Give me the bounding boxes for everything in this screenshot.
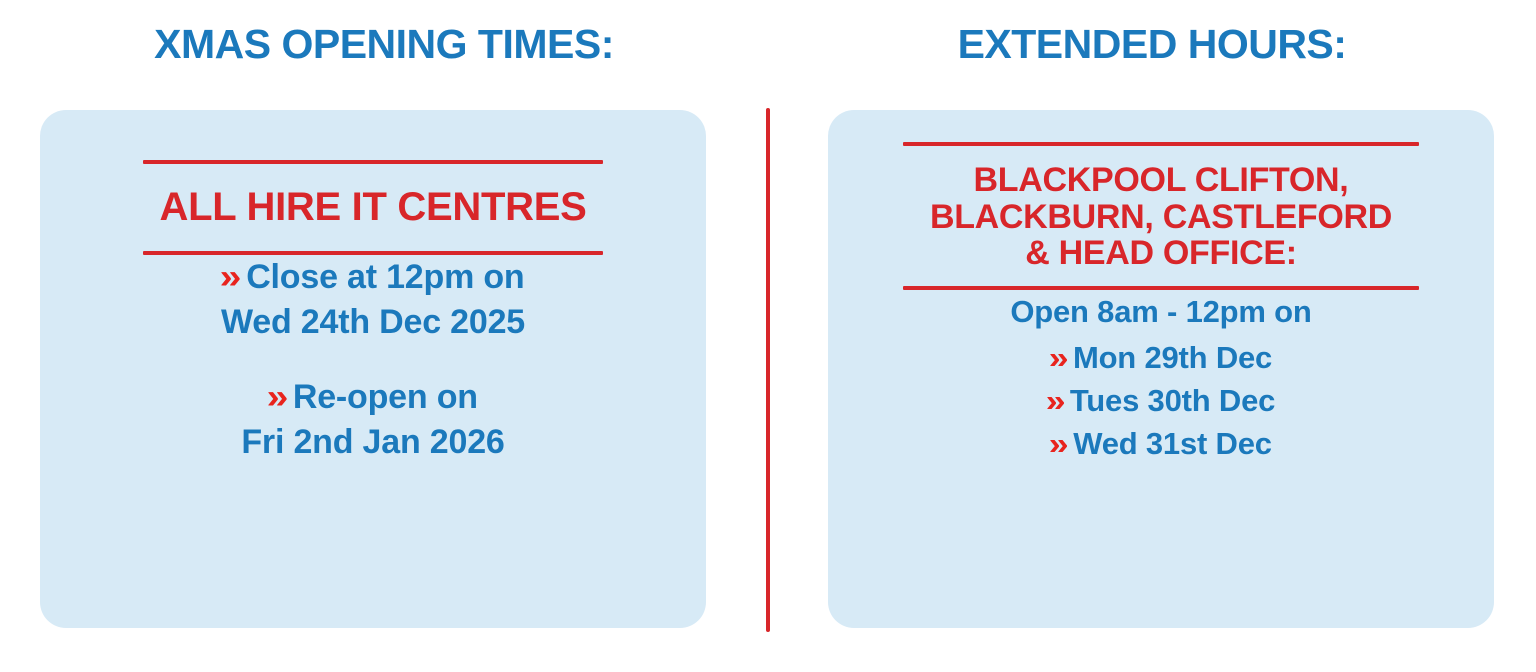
right-entry-mon-label: Mon 29th Dec xyxy=(1073,340,1272,375)
right-section-heading: EXTENDED HOURS: xyxy=(768,24,1536,65)
right-card-title: BLACKPOOL CLIFTON, BLACKBURN, CASTLEFORD… xyxy=(828,162,1494,272)
right-entry-wed-label: Wed 31st Dec xyxy=(1073,426,1272,461)
chevron-double-right-icon: » xyxy=(267,375,289,420)
left-title-rule-top xyxy=(143,160,603,164)
right-card-title-line-3: & HEAD OFFICE: xyxy=(828,235,1494,272)
right-card-inner: BLACKPOOL CLIFTON, BLACKBURN, CASTLEFORD… xyxy=(828,110,1494,466)
left-entry-reopen-line1: »Re-open on xyxy=(40,375,706,420)
left-entry-close-text: Close at 12pm on xyxy=(246,258,524,296)
extended-hours-card: BLACKPOOL CLIFTON, BLACKBURN, CASTLEFORD… xyxy=(828,110,1494,628)
right-entry-tues: »Tues 30th Dec xyxy=(828,379,1494,422)
left-entry-reopen: »Re-open on Fri 2nd Jan 2026 xyxy=(40,375,706,465)
right-column: EXTENDED HOURS: BLACKPOOL CLIFTON, BLACK… xyxy=(768,0,1536,672)
chevron-double-right-icon: » xyxy=(1049,336,1069,379)
left-section-heading: XMAS OPENING TIMES: xyxy=(0,24,768,65)
left-card-body: »Close at 12pm on Wed 24th Dec 2025 »Re-… xyxy=(40,255,706,465)
left-card-title: ALL HIRE IT CENTRES xyxy=(40,186,706,229)
left-entry-reopen-text: Re-open on xyxy=(293,378,478,416)
right-card-lead-text: Open 8am - 12pm on xyxy=(828,290,1494,333)
left-entry-reopen-date: Fri 2nd Jan 2026 xyxy=(40,420,706,465)
left-column: XMAS OPENING TIMES: ALL HIRE IT CENTRES … xyxy=(0,0,768,672)
left-entry-spacer xyxy=(40,345,706,375)
right-card-body: Open 8am - 12pm on »Mon 29th Dec »Tues 3… xyxy=(828,290,1494,466)
left-card-inner: ALL HIRE IT CENTRES »Close at 12pm on We… xyxy=(40,110,706,465)
left-entry-close-date: Wed 24th Dec 2025 xyxy=(40,300,706,345)
chevron-double-right-icon: » xyxy=(1046,379,1066,422)
right-card-title-line-1: BLACKPOOL CLIFTON, xyxy=(828,162,1494,199)
right-title-rule-top xyxy=(903,142,1419,146)
opening-times-poster: XMAS OPENING TIMES: ALL HIRE IT CENTRES … xyxy=(0,0,1536,672)
left-entry-close-line1: »Close at 12pm on xyxy=(40,255,706,300)
chevron-double-right-icon: » xyxy=(1049,422,1069,465)
right-card-title-line-2: BLACKBURN, CASTLEFORD xyxy=(828,199,1494,236)
right-entry-mon: »Mon 29th Dec xyxy=(828,336,1494,379)
chevron-double-right-icon: » xyxy=(220,255,242,300)
left-entry-close: »Close at 12pm on Wed 24th Dec 2025 xyxy=(40,255,706,345)
all-hire-it-centres-card: ALL HIRE IT CENTRES »Close at 12pm on We… xyxy=(40,110,706,628)
right-entry-wed: »Wed 31st Dec xyxy=(828,422,1494,465)
right-entry-tues-label: Tues 30th Dec xyxy=(1070,383,1275,418)
